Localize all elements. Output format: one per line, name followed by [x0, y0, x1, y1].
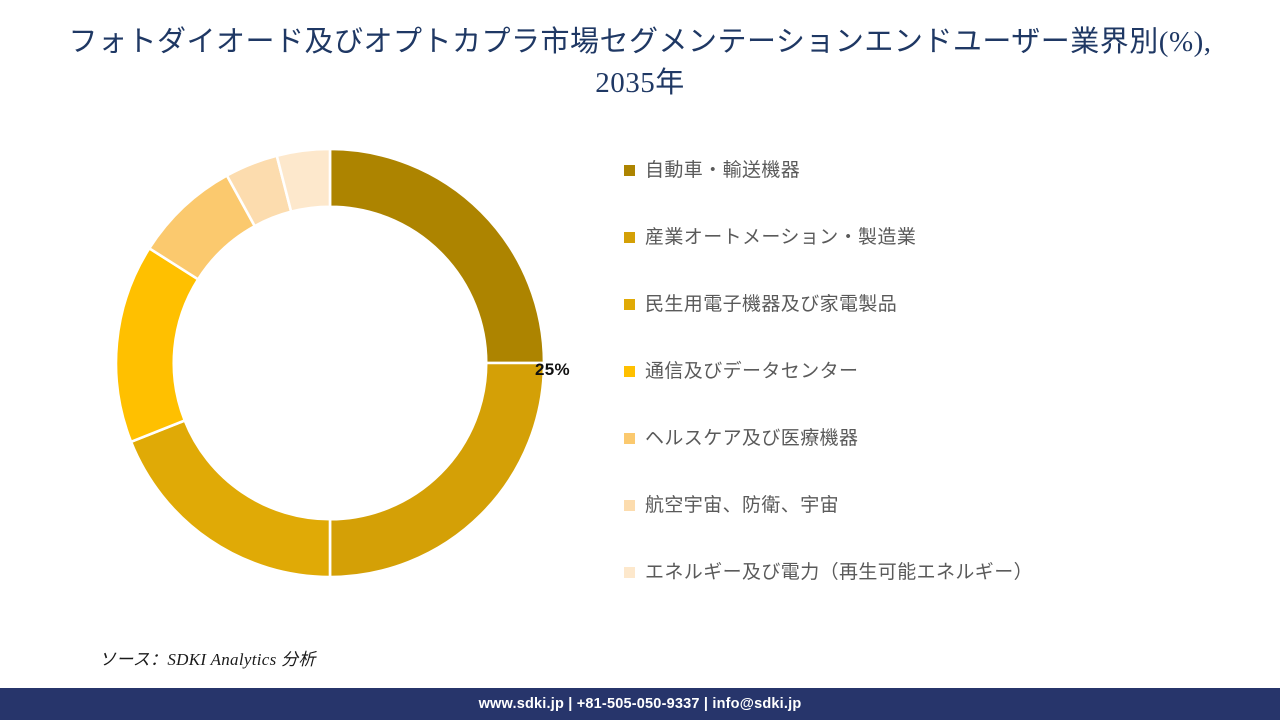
legend-swatch-icon — [624, 232, 635, 243]
legend-item-label: 民生用電子機器及び家電製品 — [645, 292, 897, 318]
legend-item[interactable]: 民生用電子機器及び家電製品 — [624, 292, 1184, 359]
chart-legend: 自動車・輸送機器産業オートメーション・製造業民生用電子機器及び家電製品 通信及び… — [624, 158, 1184, 627]
page-title: フォトダイオード及びオプトカプラ市場セグメンテーションエンドユーザー業界別(%)… — [48, 22, 1232, 104]
footer-contact-text: www.sdki.jp | +81-505-050-9337 | info@sd… — [479, 696, 802, 712]
legend-item[interactable]: エネルギー及び電力（再生可能エネルギー） — [624, 560, 1184, 627]
data-label-automotive: 25% — [535, 360, 570, 380]
legend-item[interactable]: 自動車・輸送機器 — [624, 158, 1184, 225]
legend-item-label: 産業オートメーション・製造業 — [645, 225, 916, 251]
footer-bar: www.sdki.jp | +81-505-050-9337 | info@sd… — [0, 688, 1280, 720]
legend-swatch-icon — [624, 299, 635, 310]
donut-slice[interactable] — [116, 248, 198, 441]
donut-slice-group — [116, 149, 544, 577]
slide-canvas: フォトダイオード及びオプトカプラ市場セグメンテーションエンドユーザー業界別(%)… — [0, 0, 1280, 720]
donut-chart-svg — [95, 138, 565, 588]
legend-item[interactable]: 産業オートメーション・製造業 — [624, 225, 1184, 292]
donut-slice[interactable] — [131, 421, 330, 577]
legend-item[interactable]: ヘルスケア及び医療機器 — [624, 426, 1184, 493]
legend-item-label: 航空宇宙、防衛、宇宙 — [645, 493, 839, 519]
donut-chart: 25% — [95, 138, 565, 588]
legend-swatch-icon — [624, 165, 635, 176]
legend-swatch-icon — [624, 366, 635, 377]
legend-item-label: 自動車・輸送機器 — [645, 158, 800, 184]
legend-item[interactable]: 通信及びデータセンター — [624, 359, 1184, 426]
legend-item-label: エネルギー及び電力（再生可能エネルギー） — [645, 560, 1033, 586]
legend-swatch-icon — [624, 433, 635, 444]
legend-item-label: 通信及びデータセンター — [645, 359, 858, 385]
donut-slice[interactable] — [330, 363, 544, 577]
source-note: ソース：SDKI Analytics 分析 — [99, 645, 316, 670]
legend-swatch-icon — [624, 567, 635, 578]
legend-item[interactable]: 航空宇宙、防衛、宇宙 — [624, 493, 1184, 560]
donut-slice[interactable] — [330, 149, 544, 363]
legend-swatch-icon — [624, 500, 635, 511]
legend-item-label: ヘルスケア及び医療機器 — [645, 426, 858, 452]
